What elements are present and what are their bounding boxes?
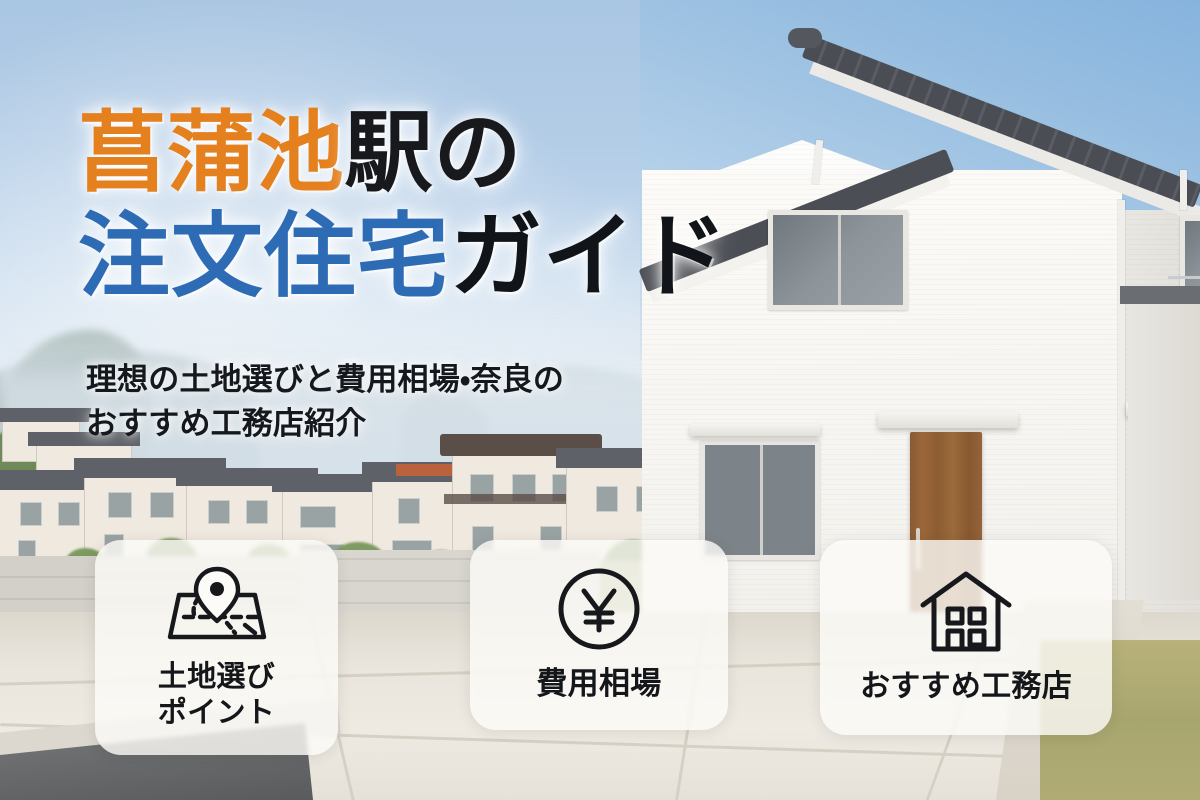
banner-stage: 菖蒲池駅の 注文住宅ガイド 理想の土地選びと費用相場・奈良の おすすめ工務店紹介… xyxy=(0,0,1200,800)
headline-guide: ガイド xyxy=(450,203,729,310)
yen-circle-icon xyxy=(556,566,642,656)
headline-station-suffix: 駅の xyxy=(345,101,523,204)
feature-card-cost[interactable]: 費用相場 xyxy=(470,540,728,730)
feature-card-builders[interactable]: おすすめ工務店 xyxy=(820,540,1112,735)
feature-card-label: 費用相場 xyxy=(536,666,661,704)
house-icon xyxy=(918,569,1014,659)
feature-card-label: 土地選びポイント xyxy=(158,659,275,730)
feature-card-label-line1: 土地選び xyxy=(158,659,275,693)
headline-line-2: 注文住宅ガイド xyxy=(78,210,778,304)
headline-block: 菖蒲池駅の 注文住宅ガイド xyxy=(78,108,778,304)
subtitle-line-1: 理想の土地選びと費用相場・奈良の xyxy=(86,358,726,402)
feature-card-label: おすすめ工務店 xyxy=(860,669,1072,706)
neighbor-house xyxy=(1128,300,1200,600)
subtitle-block: 理想の土地選びと費用相場・奈良の おすすめ工務店紹介 xyxy=(86,358,726,446)
lower-window xyxy=(700,440,820,560)
entrance-canopy xyxy=(878,412,1018,428)
neighbor-roof xyxy=(1120,286,1200,304)
headline-custom-home: 注文住宅 xyxy=(78,203,450,310)
feature-card-label-line2: ポイント xyxy=(158,695,275,729)
subtitle-line-2: おすすめ工務店紹介 xyxy=(86,402,726,446)
feature-card-label-line1: おすすめ工務店 xyxy=(860,669,1072,704)
feature-card-land-selection[interactable]: 土地選びポイント xyxy=(95,540,338,755)
headline-line-1: 菖蒲池駅の xyxy=(78,108,778,198)
feature-card-label-line1: 費用相場 xyxy=(536,666,661,702)
headline-station-name: 菖蒲池 xyxy=(78,101,345,204)
upper-window xyxy=(768,210,908,310)
map-pin-icon xyxy=(165,565,269,649)
